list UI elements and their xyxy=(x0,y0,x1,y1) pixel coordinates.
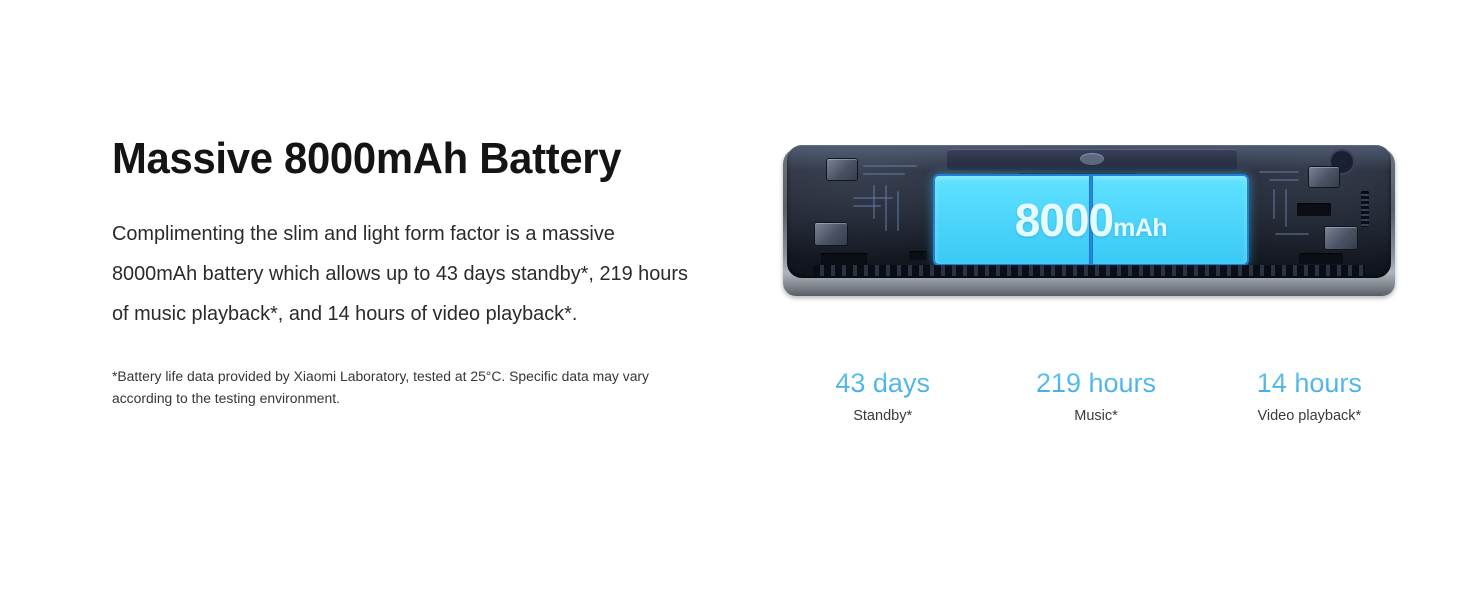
pcb-trace xyxy=(897,191,899,231)
pcb-trace xyxy=(1269,179,1299,181)
vent-cutout xyxy=(1297,203,1331,216)
stat-standby-label: Standby* xyxy=(776,400,989,425)
tablet-product-image: 8000mAh xyxy=(770,128,1420,313)
battery-capacity-label: 8000mAh xyxy=(935,197,1247,243)
stat-music: 219 hours Music* xyxy=(989,366,1202,425)
pcb-trace xyxy=(863,165,917,167)
pcb-trace xyxy=(1273,189,1275,219)
pcb-trace xyxy=(1285,189,1287,227)
stat-standby: 43 days Standby* xyxy=(776,366,989,425)
battery-capacity-unit: mAh xyxy=(1113,214,1167,242)
chip-bottom-right xyxy=(1325,227,1357,249)
stat-video-playback-value: 14 hours xyxy=(1203,366,1416,400)
speaker-grille xyxy=(813,265,1365,276)
footnote-disclaimer: *Battery life data provided by Xiaomi La… xyxy=(112,334,688,410)
stat-standby-value: 43 days xyxy=(776,366,989,400)
stat-video-playback: 14 hours Video playback* xyxy=(1203,366,1416,425)
chip-top-left xyxy=(827,159,857,180)
vent-cutout xyxy=(1299,253,1343,264)
pcb-trace xyxy=(885,185,887,231)
battery-capacity-number: 8000 xyxy=(1015,194,1113,246)
vent-cutout xyxy=(909,251,927,260)
vent-cutout xyxy=(821,253,867,265)
device-internal-chassis: 8000mAh xyxy=(787,145,1391,278)
pcb-trace xyxy=(853,197,893,199)
battery-stats-row: 43 days Standby* 219 hours Music* 14 hou… xyxy=(776,366,1416,425)
pcb-trace xyxy=(873,185,875,219)
stat-music-value: 219 hours xyxy=(989,366,1202,400)
chip-bottom-left xyxy=(815,223,847,245)
body-paragraph: Complimenting the slim and light form fa… xyxy=(112,183,694,334)
camera-module-strip xyxy=(947,149,1237,170)
pcb-trace xyxy=(863,173,905,175)
stat-music-label: Music* xyxy=(989,400,1202,425)
pcb-trace xyxy=(1259,171,1299,173)
chip-top-right xyxy=(1309,167,1339,187)
antenna-slot xyxy=(1361,191,1369,227)
pcb-trace xyxy=(1275,233,1309,235)
page-title: Massive 8000mAh Battery xyxy=(112,136,720,183)
pcb-trace xyxy=(853,205,881,207)
copy-block: Massive 8000mAh Battery Complimenting th… xyxy=(112,136,752,410)
stat-video-playback-label: Video playback* xyxy=(1203,400,1416,425)
battery-cells: 8000mAh xyxy=(935,176,1247,264)
